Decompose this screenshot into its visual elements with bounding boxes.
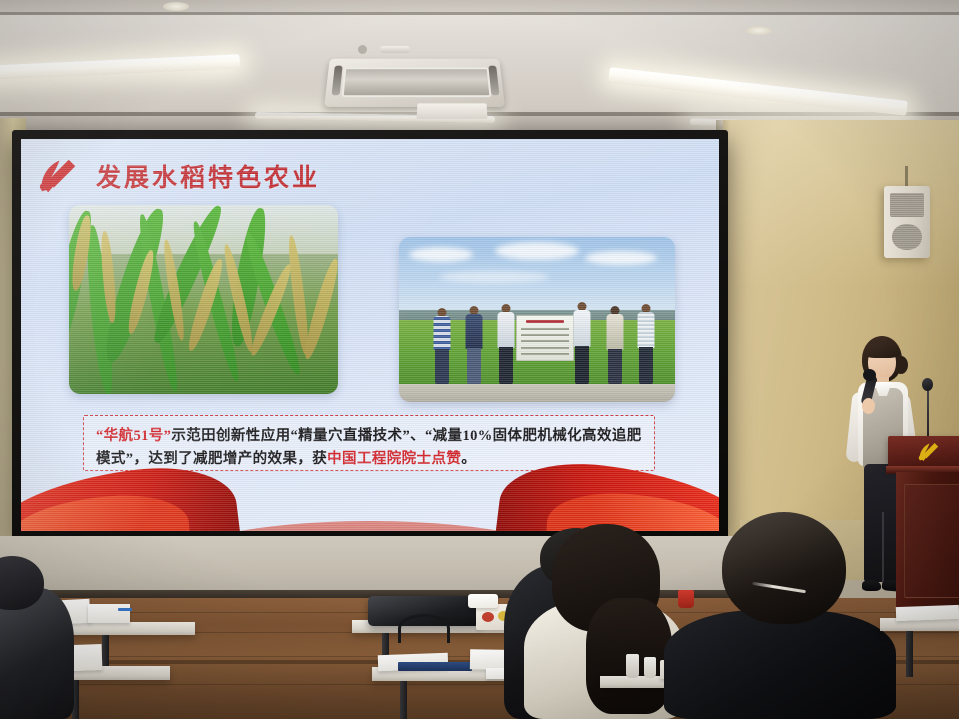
ceiling-spotlight: [163, 2, 189, 11]
slide-title: 发展水稻特色农业: [96, 158, 320, 194]
bottle: [626, 654, 639, 678]
speaker-woofer-grille-icon: [892, 224, 922, 250]
presenter-hair-bun: [894, 356, 908, 374]
group-person: [635, 304, 657, 384]
ac-vent-grille: [342, 67, 492, 97]
sign-title-line: [526, 320, 564, 323]
cloud: [585, 251, 657, 265]
person-legs: [575, 346, 589, 384]
group-person: [604, 306, 626, 384]
person-legs: [435, 349, 449, 384]
presenter-shoe: [862, 580, 881, 591]
sign-text-line: [521, 340, 568, 342]
tissue-pack: [468, 594, 498, 608]
podium-microphone-icon: [922, 378, 933, 391]
field-demo-sign: [516, 315, 574, 361]
ceiling-seam: [0, 12, 959, 15]
group-person: [463, 306, 485, 384]
notebook: [398, 662, 472, 671]
person-legs: [467, 348, 481, 384]
slide-title-row: 发展水稻特色农业: [35, 156, 320, 196]
ceiling-air-conditioner: [324, 59, 505, 107]
caption-line-1: “华航51号”示范田创新性应用“精量穴直播技术”、“减量10%固体肥机械化高效追…: [96, 425, 642, 448]
slide-photo-field-group: [399, 237, 675, 402]
bottle: [644, 657, 656, 678]
presentation-room-photo: 发展水稻特色农业: [0, 0, 959, 719]
cloud: [439, 271, 549, 283]
sign-text-line: [521, 328, 568, 330]
caption-highlight-variety: “华航51号”: [96, 428, 171, 444]
sign-text-line: [521, 353, 568, 355]
speaker-tweeter-grille-icon: [890, 193, 924, 217]
bag-handle: [398, 614, 450, 643]
group-person: [431, 308, 453, 384]
presenter-hand: [862, 398, 875, 414]
field-path: [399, 384, 675, 402]
person-torso: [466, 314, 483, 349]
cloud: [495, 242, 579, 260]
led-screen: 发展水稻特色农业: [21, 139, 719, 531]
hammer-and-sickle-emblem: [35, 156, 82, 196]
person-torso: [607, 314, 624, 350]
desk-leg: [400, 681, 407, 719]
sign-text-line: [521, 334, 568, 336]
caption-text: 示范田创新性应用“精量穴直播技术”、“减量10%固体肥机械化高效追肥: [171, 428, 641, 444]
person-torso: [498, 312, 515, 348]
ceiling-spotlight: [746, 26, 772, 35]
ac-louver: [488, 66, 499, 96]
ceiling-diffuser: [416, 103, 487, 119]
trouser-seam: [882, 512, 884, 582]
group-person: [495, 304, 517, 384]
attendee-head: [722, 512, 846, 624]
slide-red-ribbon-decoration: [21, 457, 719, 531]
wall-speaker: [884, 186, 930, 258]
cloud: [409, 247, 473, 262]
person-legs: [608, 349, 622, 384]
ceiling-sensor-bar: [380, 46, 410, 53]
food-item: [482, 612, 494, 622]
slide-photo-rice-crop: [69, 205, 338, 394]
podium-front-panel: [904, 484, 959, 598]
red-cup: [678, 590, 694, 608]
person-legs: [499, 347, 513, 384]
person-torso: [574, 310, 591, 347]
papers: [896, 605, 959, 621]
podium-microphone-stem: [927, 386, 929, 438]
person-torso: [638, 312, 655, 348]
notebook: [88, 604, 130, 623]
presenter-fringe: [864, 344, 900, 358]
ceiling-sensor-icon: [358, 45, 367, 54]
ac-louver: [332, 66, 343, 96]
group-person: [571, 302, 593, 384]
attendee-right-masked: [664, 610, 896, 719]
pen: [118, 608, 132, 611]
gold-hammer-and-sickle-emblem: [916, 441, 942, 463]
sign-text-line: [521, 347, 568, 349]
desk-leg: [906, 631, 913, 677]
microphone-head-icon: [863, 369, 876, 381]
person-legs: [639, 347, 653, 384]
person-torso: [434, 316, 451, 350]
